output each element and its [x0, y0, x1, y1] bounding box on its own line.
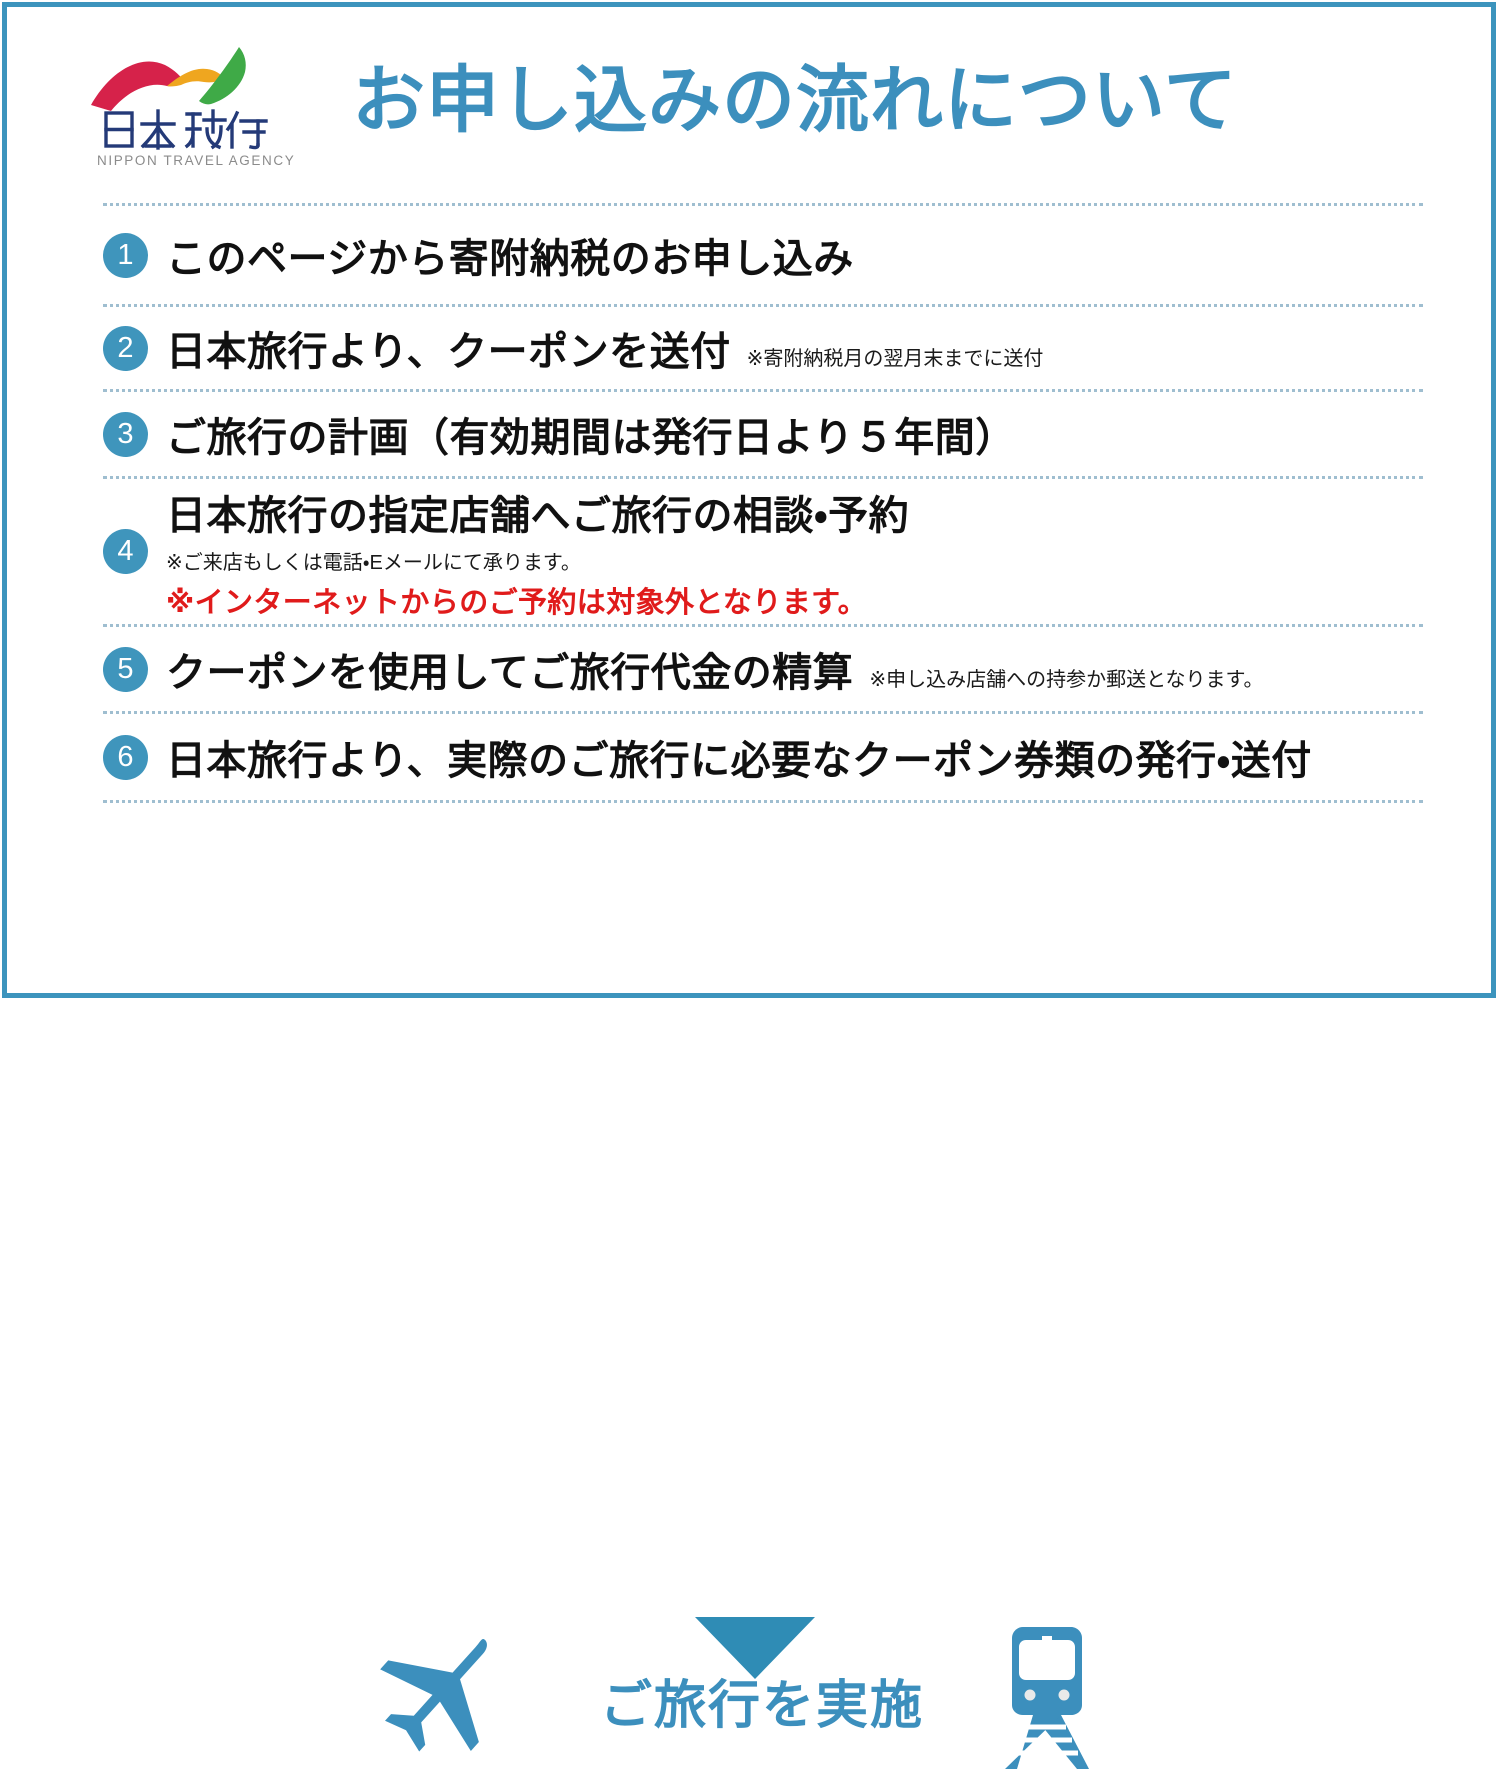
- flow-card: NIPPON TRAVEL AGENCY お申し込みの流れについて 1 このペー…: [2, 2, 1496, 998]
- step-body: 日本旅行より、クーポンを送付 ※寄附納税月の翌月末までに送付: [166, 319, 1423, 377]
- step-row-3[interactable]: 3 ご旅行の計画（有効期間は発行日より５年間）: [103, 392, 1423, 476]
- step-title: 日本旅行より、クーポンを送付: [166, 319, 731, 377]
- step-number-badge: 4: [103, 529, 148, 574]
- step-main-line: このページから寄附納税のお申し込み: [166, 226, 1423, 284]
- step-note: ※申し込み店舗への持参か郵送となります。: [869, 663, 1263, 692]
- divider: [103, 800, 1423, 803]
- footer-caption: ご旅行を実施: [582, 1663, 942, 1738]
- step-title: 日本旅行の指定店舗へご旅行の相談・予約: [166, 483, 909, 541]
- step-row-2[interactable]: 2 日本旅行より、クーポンを送付 ※寄附納税月の翌月末までに送付: [103, 307, 1423, 389]
- step-row-5[interactable]: 5 クーポンを使用してご旅行代金の精算 ※申し込み店舗への持参か郵送となります。: [103, 627, 1423, 711]
- steps-list: 1 このページから寄附納税のお申し込み 2 日本旅行より、クーポンを送付 ※寄附…: [103, 203, 1423, 803]
- step-main-line: 日本旅行より、クーポンを送付 ※寄附納税月の翌月末までに送付: [166, 319, 1423, 377]
- airplane-icon: [375, 1620, 515, 1760]
- step-number-badge: 2: [103, 326, 148, 371]
- step-title: クーポンを使用してご旅行代金の精算: [166, 640, 853, 698]
- train-icon: [997, 1623, 1097, 1773]
- step-main-line: クーポンを使用してご旅行代金の精算 ※申し込み店舗への持参か郵送となります。: [166, 640, 1423, 698]
- step-body: 日本旅行の指定店舗へご旅行の相談・予約 ※ご来店もしくは電話・Eメールにて承りま…: [166, 483, 1423, 621]
- step-body: クーポンを使用してご旅行代金の精算 ※申し込み店舗への持参か郵送となります。: [166, 640, 1423, 698]
- logo-kanji-nihon-ryoko: [101, 107, 271, 151]
- page-title: お申し込みの流れについて: [352, 59, 1238, 144]
- nippon-travel-agency-logo: NIPPON TRAVEL AGENCY: [87, 45, 272, 177]
- step-number-badge: 6: [103, 735, 148, 780]
- footer: ご旅行を実施: [7, 805, 1491, 995]
- step-number-badge: 1: [103, 233, 148, 278]
- step-number-badge: 3: [103, 412, 148, 457]
- step-body: 日本旅行より、実際のご旅行に必要なクーポン券類の発行・送付: [166, 728, 1423, 786]
- step-title: このページから寄附納税のお申し込み: [166, 226, 854, 284]
- step-body: このページから寄附納税のお申し込み: [166, 226, 1423, 284]
- step-title: ご旅行の計画（有効期間は発行日より５年間）: [166, 405, 1016, 463]
- step-main-line: 日本旅行より、実際のご旅行に必要なクーポン券類の発行・送付: [166, 728, 1423, 786]
- step-main-line: 日本旅行の指定店舗へご旅行の相談・予約: [166, 483, 1423, 541]
- step-row-1[interactable]: 1 このページから寄附納税のお申し込み: [103, 206, 1423, 304]
- step-main-line: ご旅行の計画（有効期間は発行日より５年間）: [166, 405, 1423, 463]
- step-warning-note: ※インターネットからのご予約は対象外となります。: [166, 579, 1423, 621]
- step-number-badge: 5: [103, 647, 148, 692]
- step-note: ※寄附納税月の翌月末までに送付: [747, 342, 1044, 371]
- step-row-6[interactable]: 6 日本旅行より、実際のご旅行に必要なクーポン券類の発行・送付: [103, 714, 1423, 800]
- step-sub-note: ※ご来店もしくは電話・Eメールにて承ります。: [166, 546, 1423, 575]
- step-row-4[interactable]: 4 日本旅行の指定店舗へご旅行の相談・予約 ※ご来店もしくは電話・Eメールにて承…: [103, 479, 1423, 624]
- logo-swoosh-icon: [87, 45, 272, 115]
- step-body: ご旅行の計画（有効期間は発行日より５年間）: [166, 405, 1423, 463]
- logo-subtext: NIPPON TRAVEL AGENCY: [97, 153, 272, 168]
- step-title: 日本旅行より、実際のご旅行に必要なクーポン券類の発行・送付: [166, 728, 1312, 786]
- header: NIPPON TRAVEL AGENCY お申し込みの流れについて: [7, 7, 1491, 182]
